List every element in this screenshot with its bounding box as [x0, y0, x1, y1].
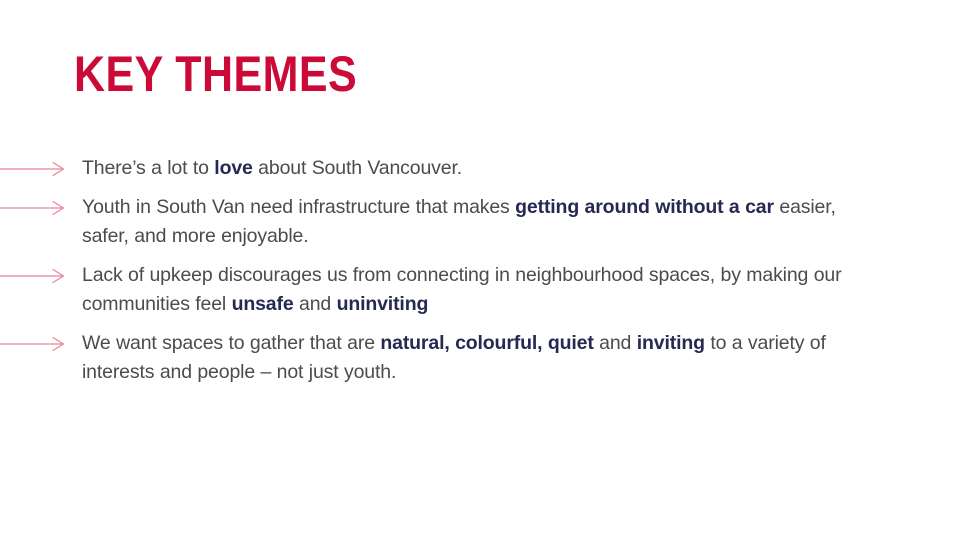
list-item-text: We want spaces to gather that are natura… — [82, 332, 826, 383]
list-item-text: Lack of upkeep discourages us from conne… — [82, 264, 841, 315]
list-item: Lack of upkeep discourages us from conne… — [0, 261, 960, 319]
list-item: Youth in South Van need infrastructure t… — [0, 193, 960, 251]
key-themes-list: There’s a lot to love about South Vancou… — [0, 154, 960, 397]
list-item: We want spaces to gather that are natura… — [0, 329, 960, 387]
list-item-text: Youth in South Van need infrastructure t… — [82, 196, 836, 247]
arrow-right-icon — [0, 267, 68, 285]
list-item-text: There’s a lot to love about South Vancou… — [82, 157, 462, 179]
arrow-right-icon — [0, 199, 68, 217]
arrow-right-icon — [0, 335, 68, 353]
slide: KEY THEMES There’s a lot to love about S… — [0, 0, 960, 540]
page-title: KEY THEMES — [74, 48, 357, 100]
arrow-right-icon — [0, 160, 68, 178]
list-item: There’s a lot to love about South Vancou… — [0, 154, 960, 183]
